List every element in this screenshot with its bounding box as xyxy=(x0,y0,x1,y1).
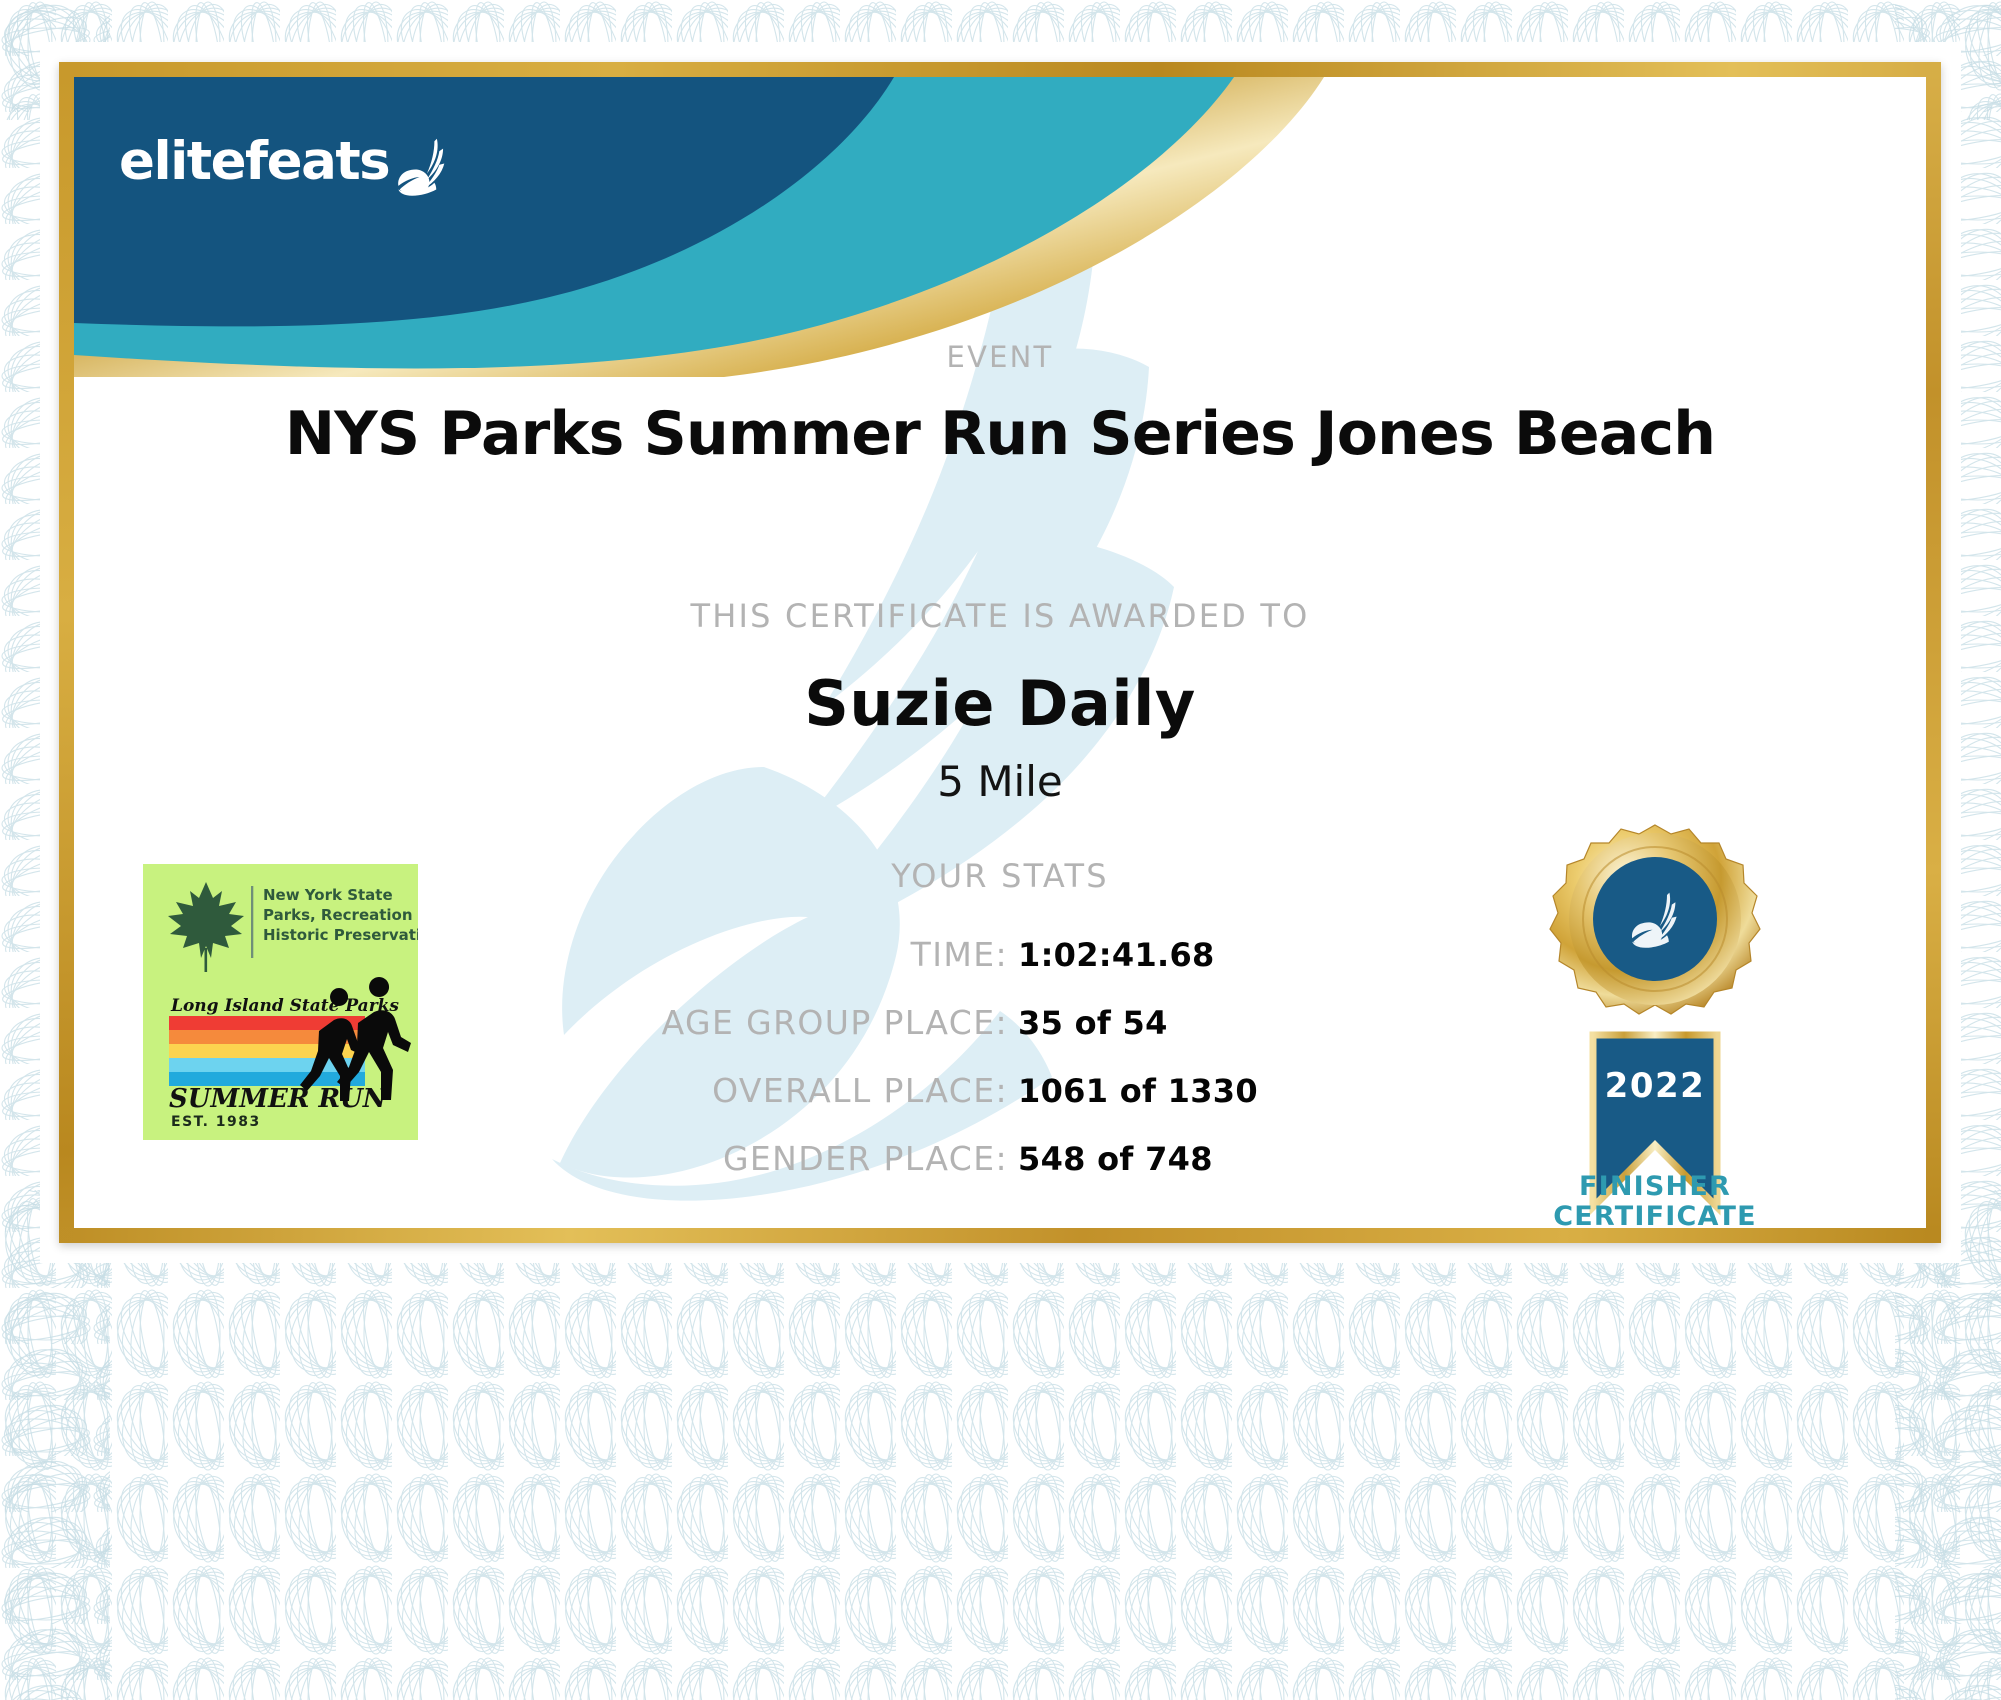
finisher-caption: FINISHER CERTIFICATE xyxy=(1495,1172,1815,1232)
finisher-caption-line2: CERTIFICATE xyxy=(1495,1202,1815,1232)
svg-text:Parks, Recreation and: Parks, Recreation and xyxy=(263,906,418,924)
stat-value: 35 of 54 xyxy=(1018,1004,1168,1042)
finisher-caption-line1: FINISHER xyxy=(1495,1172,1815,1202)
brand-wordmark: elitefeats xyxy=(119,131,389,192)
series-main-text: SUMMER RUN xyxy=(169,1084,388,1114)
nys-parks-summer-run-logo: New York State Parks, Recreation and His… xyxy=(143,864,418,1140)
stat-value: 1:02:41.68 xyxy=(1018,936,1215,974)
stat-label: GENDER PLACE: xyxy=(74,1139,1018,1178)
finisher-medal-badge: 2022 xyxy=(1505,807,1805,1227)
svg-text:New York State: New York State xyxy=(263,886,393,904)
series-est-text: EST. 1983 xyxy=(171,1114,261,1130)
medal-year-text: 2022 xyxy=(1605,1066,1706,1106)
winged-foot-icon xyxy=(391,135,453,197)
stat-value: 548 of 748 xyxy=(1018,1140,1213,1178)
elitefeats-logo: elitefeats xyxy=(119,125,453,197)
event-kicker: EVENT xyxy=(74,340,1926,374)
medal-disc xyxy=(1550,825,1760,1014)
series-top-text: Long Island State Parks xyxy=(170,996,399,1016)
svg-text:Historic Preservation: Historic Preservation xyxy=(263,926,418,944)
event-title: NYS Parks Summer Run Series Jones Beach xyxy=(74,399,1926,469)
certificate-frame: elitefeats EVENT NYS Parks Summer Run Se… xyxy=(59,62,1941,1243)
stat-value: 1061 of 1330 xyxy=(1018,1072,1258,1110)
certificate-page: elitefeats EVENT NYS Parks Summer Run Se… xyxy=(0,0,2001,1700)
recipient-name: Suzie Daily xyxy=(74,667,1926,740)
awarded-kicker: THIS CERTIFICATE IS AWARDED TO xyxy=(74,597,1926,635)
race-distance: 5 Mile xyxy=(74,757,1926,806)
